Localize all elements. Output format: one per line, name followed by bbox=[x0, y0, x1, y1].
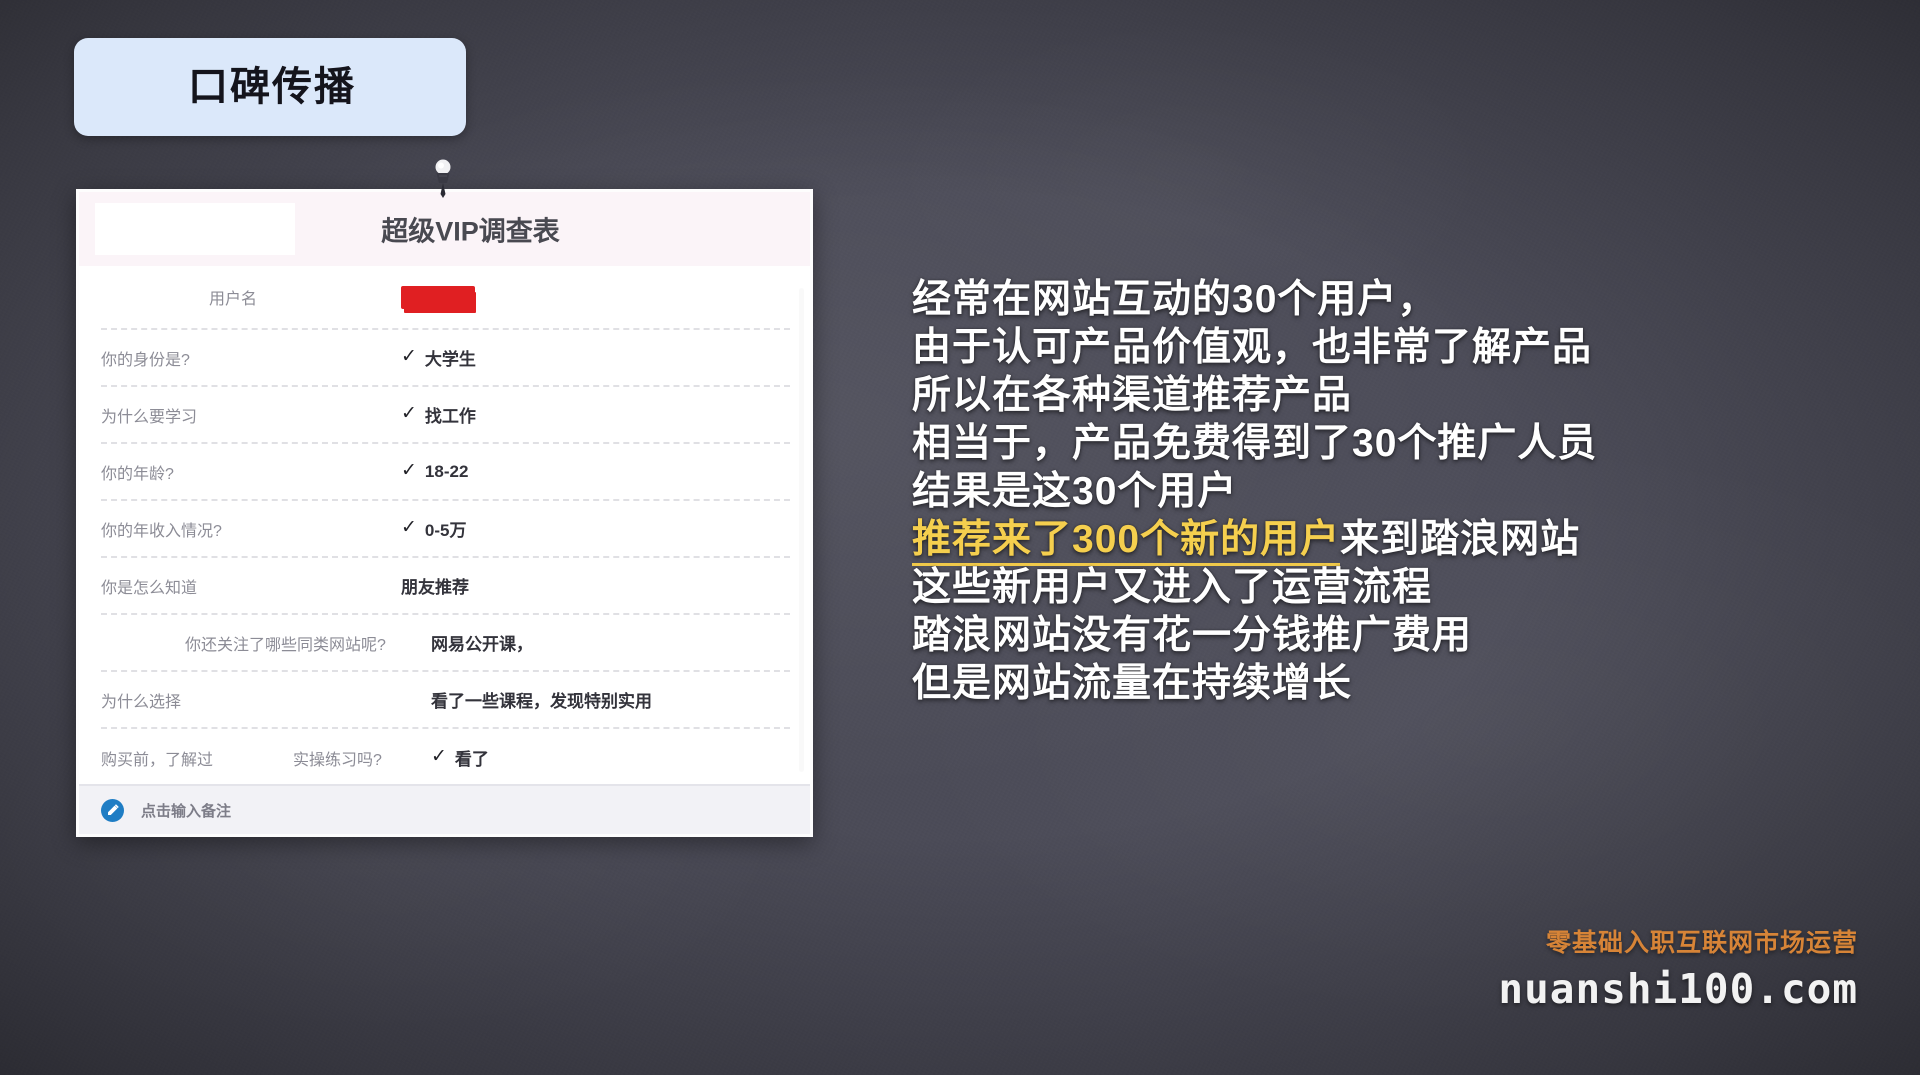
table-row[interactable]: 你是怎么知道 朋友推荐 bbox=[101, 558, 790, 615]
survey-card-footer[interactable]: 点击输入备注 bbox=[79, 784, 810, 834]
row-value: ✓ 0-5万 bbox=[401, 516, 467, 541]
table-row[interactable]: 你的身份是? ✓ 大学生 bbox=[101, 330, 790, 387]
check-icon: ✓ bbox=[401, 516, 417, 539]
row-label: 为什么要学习 bbox=[101, 403, 197, 427]
card-scrollbar[interactable] bbox=[799, 288, 804, 772]
table-row[interactable]: 为什么要学习 ✓ 找工作 bbox=[101, 387, 790, 444]
narration-line: 这些新用户又进入了运营流程 bbox=[912, 564, 1872, 612]
narration-highlight: 推荐来了300个新的用户 bbox=[912, 518, 1340, 566]
row-value-text: 大学生 bbox=[425, 345, 476, 370]
narration-line: 经常在网站互动的30个用户， bbox=[912, 276, 1872, 324]
narration-line: 由于认可产品价值观，也非常了解产品 bbox=[912, 324, 1872, 372]
row-value-text: 朋友推荐 bbox=[401, 573, 469, 598]
row-value: 网易公开课， bbox=[431, 630, 533, 655]
row-value: ✓ 找工作 bbox=[401, 402, 476, 427]
check-icon: ✓ bbox=[401, 459, 417, 482]
section-title-label: 口碑传播 bbox=[188, 67, 356, 107]
redaction-block bbox=[401, 286, 475, 309]
survey-card-inner: 超级VIP调查表 用户名 你的身份是? ✓ 大学生 bbox=[79, 192, 810, 834]
check-icon: ✓ bbox=[401, 402, 417, 425]
row-value-text: 网易公开课， bbox=[431, 630, 533, 655]
row-value-text: 18-22 bbox=[425, 462, 468, 482]
table-row[interactable]: 你还关注了哪些同类网站呢? 网易公开课， bbox=[101, 615, 790, 672]
narration-block: 经常在网站互动的30个用户， 由于认可产品价值观，也非常了解产品 所以在各种渠道… bbox=[912, 276, 1872, 708]
row-label-secondary: 实操练习吗? bbox=[293, 746, 382, 770]
table-row[interactable]: 你的年收入情况? ✓ 0-5万 bbox=[101, 501, 790, 558]
row-label: 购买前，了解过 bbox=[101, 746, 213, 770]
narration-line-highlighted: 推荐来了300个新的用户来到踏浪网站 bbox=[912, 516, 1872, 564]
row-label: 你还关注了哪些同类网站呢? bbox=[185, 631, 386, 655]
row-value: 朋友推荐 bbox=[401, 573, 469, 598]
row-value: 看了一些课程，发现特别实用 bbox=[431, 687, 652, 712]
row-label: 你是怎么知道 bbox=[101, 574, 197, 598]
row-label: 你的年龄? bbox=[101, 460, 174, 484]
survey-rows: 用户名 你的身份是? ✓ 大学生 为什么要学习 bbox=[79, 266, 810, 784]
row-label: 用户名 bbox=[209, 285, 257, 309]
row-label: 你的身份是? bbox=[101, 346, 190, 370]
survey-card[interactable]: 超级VIP调查表 用户名 你的身份是? ✓ 大学生 bbox=[76, 189, 813, 837]
table-row[interactable]: 购买前，了解过 实操练习吗? ✓ 看了 bbox=[101, 729, 790, 784]
narration-line: 但是网站流量在持续增长 bbox=[912, 660, 1872, 708]
table-row[interactable]: 你的年龄? ✓ 18-22 bbox=[101, 444, 790, 501]
note-placeholder-label: 点击输入备注 bbox=[141, 800, 231, 821]
row-value bbox=[401, 286, 475, 309]
brand-url: nuanshi100.com bbox=[1498, 965, 1858, 1013]
row-value: ✓ 18-22 bbox=[401, 460, 468, 483]
narration-line: 踏浪网站没有花一分钱推广费用 bbox=[912, 612, 1872, 660]
narration-line: 相当于，产品免费得到了30个推广人员 bbox=[912, 420, 1872, 468]
row-label: 为什么选择 bbox=[101, 688, 181, 712]
row-value-text: 看了 bbox=[455, 745, 489, 770]
table-row[interactable]: 为什么选择 看了一些课程，发现特别实用 bbox=[101, 672, 790, 729]
check-icon: ✓ bbox=[431, 745, 447, 768]
brand-tagline: 零基础入职互联网市场运营 bbox=[1498, 923, 1858, 959]
row-value-text: 0-5万 bbox=[425, 516, 467, 541]
row-value-text: 找工作 bbox=[425, 402, 476, 427]
row-value: ✓ 看了 bbox=[431, 745, 489, 770]
narration-line: 结果是这30个用户 bbox=[912, 468, 1872, 516]
narration-highlight-tail: 来到踏浪网站 bbox=[1340, 518, 1580, 561]
table-row[interactable]: 用户名 bbox=[101, 266, 790, 330]
slide-root: 口碑传播 超级VIP调查表 用户名 bbox=[0, 0, 1920, 1075]
pushpin-icon bbox=[430, 158, 456, 204]
row-value-text: 看了一些课程，发现特别实用 bbox=[431, 687, 652, 712]
branding-watermark: 零基础入职互联网市场运营 nuanshi100.com bbox=[1498, 923, 1858, 1013]
row-label: 你的年收入情况? bbox=[101, 517, 222, 541]
check-icon: ✓ bbox=[401, 345, 417, 368]
narration-line: 所以在各种渠道推荐产品 bbox=[912, 372, 1872, 420]
edit-note-icon[interactable] bbox=[101, 799, 124, 822]
survey-title: 超级VIP调查表 bbox=[79, 210, 810, 249]
section-title-badge: 口碑传播 bbox=[74, 38, 466, 136]
row-value: ✓ 大学生 bbox=[401, 345, 476, 370]
